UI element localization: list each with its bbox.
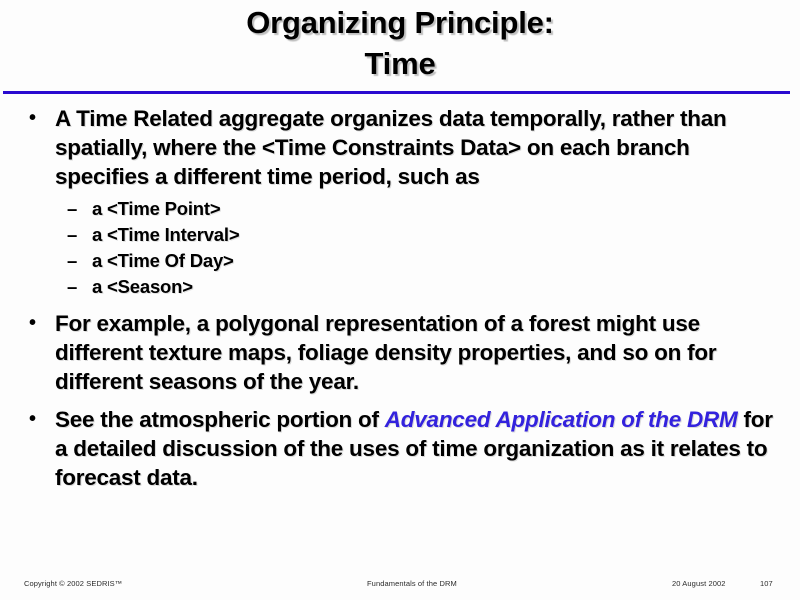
presentation-slide: Organizing Principle: Time • A Time Rela… <box>0 0 800 600</box>
dash-marker-icon: – <box>67 248 77 274</box>
sub-bullet-item-1: – a <Time Point> <box>0 196 800 222</box>
bullet-marker-icon: • <box>29 104 36 133</box>
bullet-item-2: • For example, a polygonal representatio… <box>0 309 800 396</box>
sub-bullet-item-4-text: a <Season> <box>92 276 193 297</box>
footer-date: 20 August 2002 <box>672 579 726 588</box>
bullet-item-2-text: For example, a polygonal representation … <box>55 311 716 394</box>
dash-marker-icon: – <box>67 222 77 248</box>
bullet-item-3-text-pre: See the atmospheric portion of <box>55 407 385 432</box>
document-reference-link[interactable]: Advanced Application of the DRM <box>385 407 738 432</box>
slide-title-line-1: Organizing Principle: <box>0 2 800 43</box>
bullet-marker-icon: • <box>29 405 36 434</box>
dash-marker-icon: – <box>67 196 77 222</box>
slide-body: • A Time Related aggregate organizes dat… <box>0 104 800 494</box>
sub-bullet-item-3-text: a <Time Of Day> <box>92 250 234 271</box>
slide-title: Organizing Principle: Time <box>0 2 800 84</box>
bullet-marker-icon: • <box>29 309 36 338</box>
bullet-item-1-text: A Time Related aggregate organizes data … <box>55 106 727 189</box>
sub-bullet-item-3: – a <Time Of Day> <box>0 248 800 274</box>
slide-title-line-2: Time <box>0 43 800 84</box>
slide-footer: Copyright © 2002 SEDRIS™ Fundamentals of… <box>0 574 800 600</box>
sub-bullet-list: – a <Time Point> – a <Time Interval> – a… <box>0 196 800 300</box>
bullet-item-3: • See the atmospheric portion of Advance… <box>0 405 800 492</box>
title-divider-rule <box>3 91 790 94</box>
sub-bullet-item-4: – a <Season> <box>0 274 800 300</box>
sub-bullet-item-2: – a <Time Interval> <box>0 222 800 248</box>
dash-marker-icon: – <box>67 274 77 300</box>
footer-document-title: Fundamentals of the DRM <box>367 579 457 588</box>
footer-page-number: 107 <box>760 579 773 588</box>
bullet-item-1: • A Time Related aggregate organizes dat… <box>0 104 800 191</box>
sub-bullet-item-2-text: a <Time Interval> <box>92 224 239 245</box>
footer-copyright: Copyright © 2002 SEDRIS™ <box>24 579 122 588</box>
sub-bullet-item-1-text: a <Time Point> <box>92 198 220 219</box>
